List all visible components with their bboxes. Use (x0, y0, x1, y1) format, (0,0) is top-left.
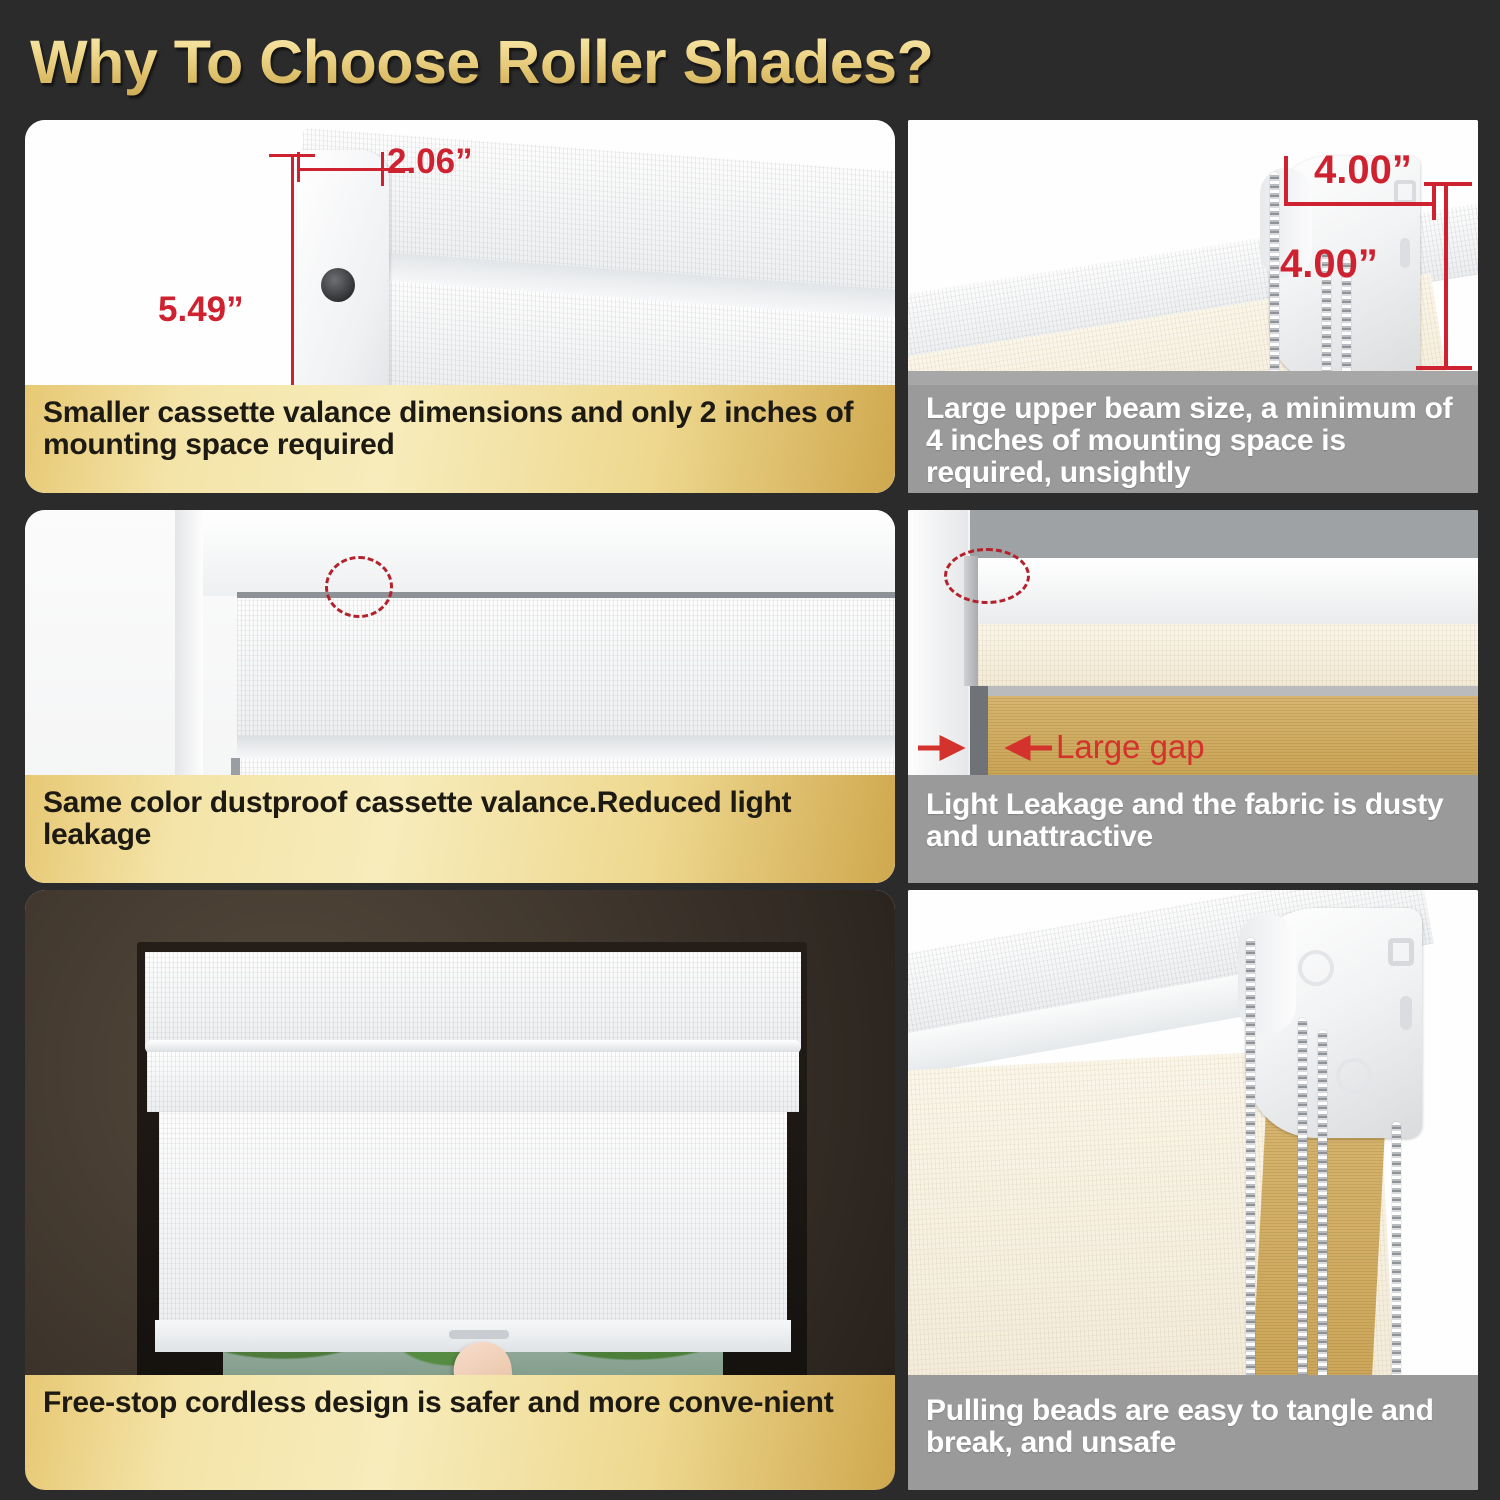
dim-549-tick-top (269, 154, 315, 157)
annotation-large-gap: Large gap (1056, 728, 1205, 766)
valance-lip (237, 736, 895, 758)
page-title: Why To Choose Roller Shades? (30, 18, 1470, 106)
page-header: Why To Choose Roller Shades? (30, 18, 1470, 106)
caption-row1-right: Large upper beam size, a minimum of 4 in… (908, 385, 1478, 493)
caption-row1-left: Smaller cassette valance dimensions and … (25, 385, 895, 493)
dimension-label-beam-height: 4.00” (1280, 242, 1378, 287)
roller-tube (968, 558, 1478, 626)
fabric-edge (970, 686, 1478, 696)
dim-400v-tick-bottom (1416, 366, 1472, 370)
dim-400h-tick-left (1284, 156, 1288, 206)
caption-row2-right: Light Leakage and the fabric is dusty an… (908, 775, 1478, 883)
valance-lower-roll (147, 1052, 799, 1112)
dim-400h-tick-right (1432, 186, 1436, 220)
bracket-slot-upper-2 (1388, 938, 1414, 966)
gap-highlight-circle (325, 556, 393, 618)
dim-206-tick-right (381, 152, 384, 186)
large-gap-arrow-right-icon (992, 732, 1054, 764)
caption-row3-right: Pulling beads are easy to tangle and bre… (908, 1375, 1478, 1490)
comparison-grid: 2.06” 5.49” Smaller cassette valance dim… (0, 112, 1500, 1500)
dim-400h-line (1286, 202, 1436, 206)
roller-shade-panel (159, 1112, 787, 1334)
dim-400v-tick-top (1424, 182, 1472, 186)
valance-cassette (145, 952, 801, 1048)
end-cap-socket (321, 268, 355, 302)
bottom-rail-handle[interactable] (449, 1330, 509, 1339)
panel-row2-right: Large gap Light Leakage and the fabric i… (908, 510, 1478, 883)
panel-row3-right: Pulling beads are easy to tangle and bre… (908, 890, 1478, 1490)
dimension-label-width: 2.06” (387, 142, 473, 182)
dimension-label-height: 5.49” (158, 290, 244, 330)
bracket-slot-lower (1400, 238, 1410, 268)
large-gap-arrow-left-icon (916, 732, 978, 764)
bracket-logo-upper (1298, 950, 1334, 986)
caption-row2-left: Same color dustproof cassette valance.Re… (25, 775, 895, 883)
ceiling-shadow (970, 510, 1478, 564)
panel-row2-left: smaller gap Same color dustproof cassett… (25, 510, 895, 883)
wall-shadow-band (908, 371, 1478, 385)
large-gap-highlight-circle (944, 548, 1030, 604)
window-frame-top (203, 510, 895, 596)
panel-row1-left: 2.06” 5.49” Smaller cassette valance dim… (25, 120, 895, 493)
shade-fabric-cream (970, 624, 1478, 686)
cassette-valance (237, 598, 895, 736)
caption-row3-left: Free-stop cordless design is safer and m… (25, 1375, 895, 1490)
panel-row1-right: 4.00” 4.00” Large upper beam size, a min… (908, 120, 1478, 493)
panel-row3-left: Free-stop cordless design is safer and m… (25, 890, 895, 1490)
dim-400v-line (1444, 182, 1448, 370)
bracket-slot-lower-2 (1400, 996, 1412, 1030)
dimension-label-beam-width: 4.00” (1314, 148, 1412, 193)
bracket-logo-lower (1336, 1058, 1372, 1094)
